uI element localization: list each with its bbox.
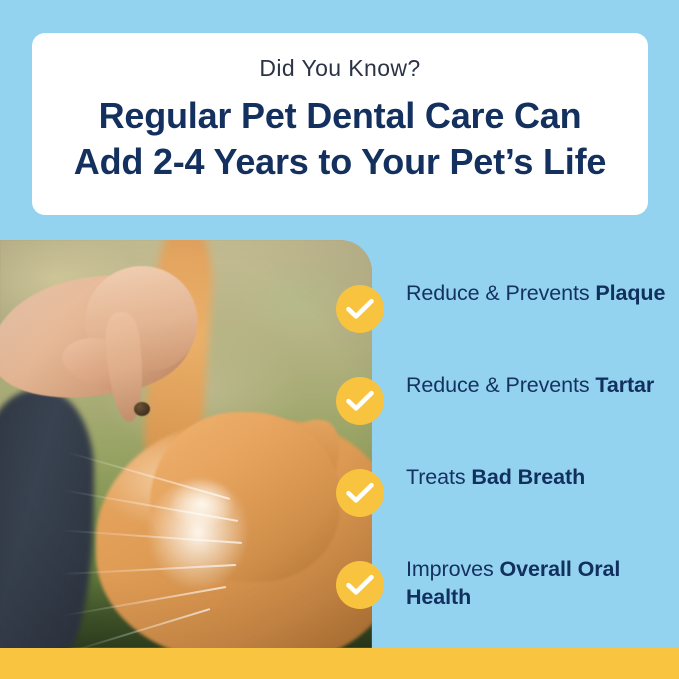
check-icon	[336, 285, 384, 333]
benefit-emphasis: Tartar	[595, 373, 654, 397]
infographic-canvas: Did You Know? Regular Pet Dental Care Ca…	[0, 0, 679, 679]
benefit-label: Improves Overall Oral Health	[406, 555, 666, 611]
cat-photo	[0, 240, 372, 648]
check-icon	[336, 469, 384, 517]
check-icon	[336, 377, 384, 425]
benefit-label: Treats Bad Breath	[406, 463, 666, 491]
benefits-list: Reduce & Prevents Plaque Reduce & Preven…	[336, 272, 666, 640]
headline-line-2: Add 2-4 Years to Your Pet’s Life	[74, 139, 606, 185]
page-title: Regular Pet Dental Care Can Add 2-4 Year…	[74, 93, 606, 185]
eyebrow-text: Did You Know?	[259, 51, 420, 85]
headline-line-1: Regular Pet Dental Care Can	[74, 93, 606, 139]
photo-cat-whiskers	[60, 470, 290, 640]
benefit-item-tartar: Reduce & Prevents Tartar	[336, 364, 666, 456]
benefit-item-oral-health: Improves Overall Oral Health	[336, 548, 666, 640]
header-card: Did You Know? Regular Pet Dental Care Ca…	[32, 33, 648, 215]
benefit-item-bad-breath: Treats Bad Breath	[336, 456, 666, 548]
check-icon	[336, 561, 384, 609]
benefit-lead: Reduce & Prevents	[406, 281, 595, 305]
benefit-lead: Treats	[406, 465, 471, 489]
benefit-item-plaque: Reduce & Prevents Plaque	[336, 272, 666, 364]
benefit-emphasis: Plaque	[595, 281, 665, 305]
benefit-label: Reduce & Prevents Plaque	[406, 279, 666, 307]
photo-dental-treat	[134, 402, 150, 416]
benefit-lead: Improves	[406, 557, 500, 581]
photo-hand	[0, 248, 220, 438]
benefit-emphasis: Bad Breath	[471, 465, 585, 489]
bottom-accent-bar	[0, 648, 679, 679]
benefit-lead: Reduce & Prevents	[406, 373, 595, 397]
benefit-label: Reduce & Prevents Tartar	[406, 371, 666, 399]
